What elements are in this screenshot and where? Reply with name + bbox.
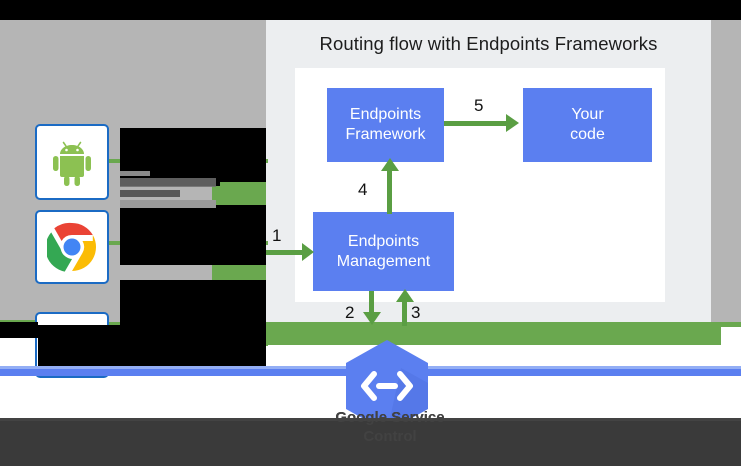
- arrow-3-label: 3: [411, 303, 420, 323]
- page-title: Routing flow with Endpoints Frameworks: [266, 30, 711, 58]
- obscured-band-chrome: [120, 205, 266, 265]
- obscured-text-smudge-1: [120, 171, 150, 176]
- obscured-band-ios-top: [120, 280, 266, 325]
- arrow-4-label: 4: [358, 180, 367, 200]
- arrow-5-head: [506, 114, 519, 132]
- node-endpoints-management-line2: Management: [337, 252, 430, 272]
- node-endpoints-framework-line1: Endpoints: [345, 105, 425, 125]
- service-control-caption-overlay-line2: Control: [300, 427, 480, 446]
- client-tile-chrome[interactable]: [35, 210, 109, 284]
- arrow-3-head: [396, 289, 414, 302]
- arrow-4-head: [381, 158, 399, 171]
- arrow-2-label: 2: [345, 303, 354, 323]
- node-your-code-line1: Your: [570, 105, 605, 125]
- node-endpoints-management[interactable]: Endpoints Management: [313, 212, 454, 291]
- node-endpoints-framework-line2: Framework: [345, 125, 425, 145]
- arrow-4-line: [387, 170, 392, 214]
- service-control-caption-overlay-line1: Google Service: [300, 408, 480, 427]
- node-endpoints-framework[interactable]: Endpoints Framework: [327, 88, 444, 162]
- service-control-caption-overlay: Google Service Control: [300, 408, 480, 446]
- android-icon: [50, 138, 94, 186]
- arrow-5-line: [444, 121, 512, 126]
- obscured-text-smudge-2: [120, 178, 216, 187]
- chrome-icon: [47, 222, 97, 272]
- right-gray-strip: [711, 20, 741, 322]
- arrow-5-label: 5: [474, 96, 483, 116]
- arrow-2-head: [363, 312, 381, 325]
- obscured-text-smudge-3: [120, 190, 180, 197]
- client-tile-android[interactable]: [35, 124, 109, 200]
- node-endpoints-management-line1: Endpoints: [337, 232, 430, 252]
- node-your-code-line2: code: [570, 125, 605, 145]
- obscured-band-left: [0, 322, 38, 338]
- node-your-code[interactable]: Your code: [523, 88, 652, 162]
- obscured-band-ios: [38, 325, 266, 372]
- arrow-3-line: [402, 300, 407, 326]
- arrow-1-head: [302, 243, 314, 261]
- obscured-text-smudge-4: [120, 200, 216, 208]
- arrow-1-label: 1: [272, 226, 281, 246]
- top-black-band: [0, 0, 741, 20]
